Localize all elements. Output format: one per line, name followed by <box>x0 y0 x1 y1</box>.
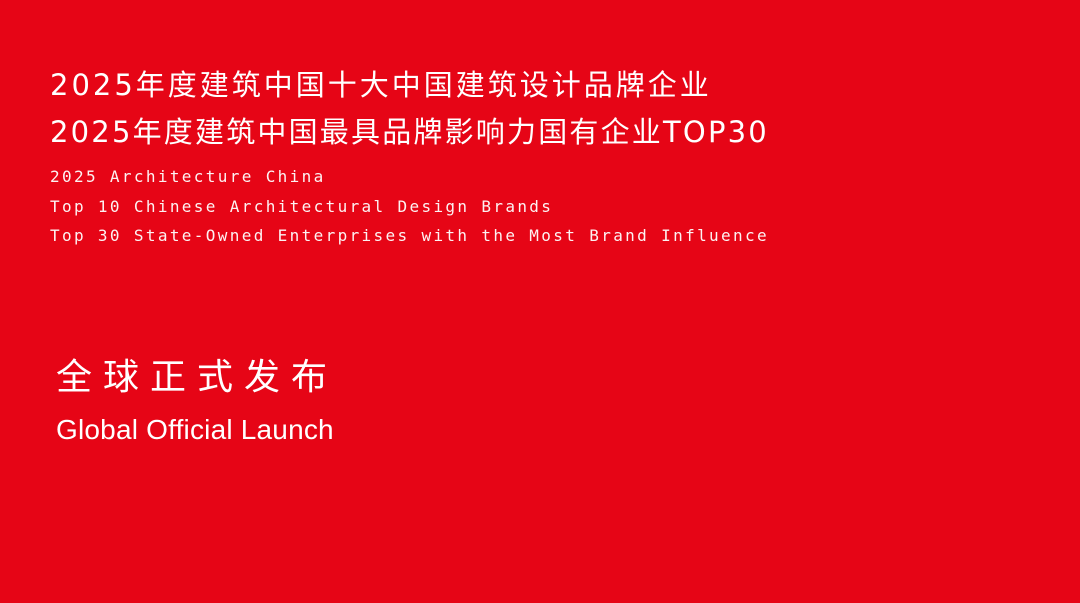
launch-title-chinese: 全球正式发布 <box>56 355 756 401</box>
award-subline-top30: Top 30 State-Owned Enterprises with the … <box>50 221 1050 251</box>
award-headline-primary: 2025年度建筑中国十大中国建筑设计品牌企业 <box>50 62 1050 109</box>
launch-announcement-block: 全球正式发布 Global Official Launch <box>56 355 756 450</box>
award-headline-secondary: 2025年度建筑中国最具品牌影响力国有企业TOP30 <box>50 109 1050 156</box>
award-subline-top10: Top 10 Chinese Architectural Design Bran… <box>50 192 1050 222</box>
award-title-block: 2025年度建筑中国十大中国建筑设计品牌企业 2025年度建筑中国最具品牌影响力… <box>50 62 1050 251</box>
award-subline-event-name: 2025 Architecture China <box>50 162 1050 192</box>
slide-canvas: 2025年度建筑中国十大中国建筑设计品牌企业 2025年度建筑中国最具品牌影响力… <box>0 0 1080 603</box>
launch-title-english: Global Official Launch <box>56 410 756 450</box>
